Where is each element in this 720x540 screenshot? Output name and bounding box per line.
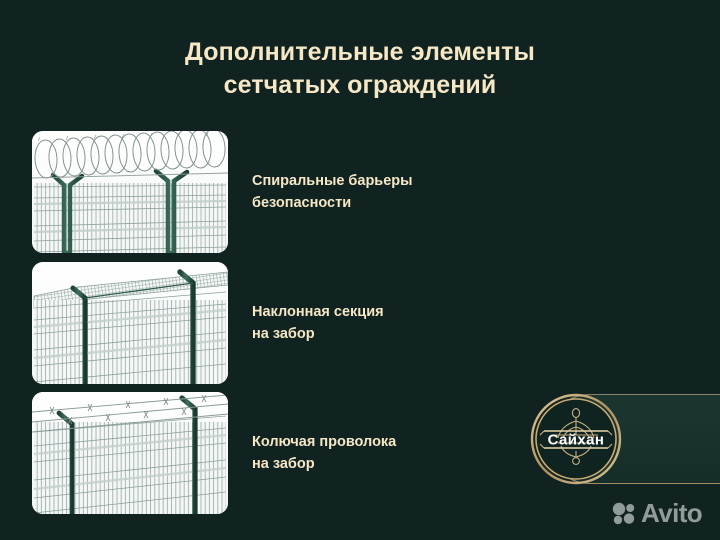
slide-canvas: Дополнительные элементы сетчатых огражде… bbox=[0, 0, 720, 540]
brand-name-text: Сайхан bbox=[548, 432, 605, 449]
thumbnail-spiral-barrier[interactable] bbox=[32, 131, 228, 253]
thumbnail-angled-section[interactable] bbox=[32, 262, 228, 384]
page-title-line-1: Дополнительные элементы bbox=[185, 38, 535, 66]
feature-row-2: Наклонная секция на забор bbox=[32, 262, 692, 384]
thumbnail-barbed-wire[interactable] bbox=[32, 392, 228, 514]
feature-caption-3-line-2: на забор bbox=[252, 453, 396, 475]
feature-caption-1-line-1: Спиральные барьеры bbox=[252, 173, 413, 189]
angled-mesh-illustration bbox=[32, 262, 228, 384]
avito-watermark: Avito bbox=[612, 500, 702, 526]
page-title-line-2: сетчатых ограждений bbox=[60, 69, 660, 102]
feature-row-1: Спиральные барьеры безопасности bbox=[32, 131, 692, 253]
feature-caption-2: Наклонная секция на забор bbox=[252, 301, 384, 345]
feature-caption-3-line-1: Колючая проволока bbox=[252, 434, 396, 450]
avito-dots-icon bbox=[612, 501, 636, 525]
brand-logo[interactable]: Сайхан bbox=[528, 391, 624, 487]
feature-caption-2-line-1: Наклонная секция bbox=[252, 304, 384, 320]
feature-caption-3: Колючая проволока на забор bbox=[252, 431, 396, 475]
page-title: Дополнительные элементы сетчатых огражде… bbox=[60, 36, 660, 102]
razor-wire-illustration bbox=[32, 131, 228, 253]
brand-emblem-icon: Сайхан bbox=[528, 391, 624, 487]
barbed-wire-illustration bbox=[32, 392, 228, 514]
feature-caption-1-line-2: безопасности bbox=[252, 192, 413, 214]
feature-caption-2-line-2: на забор bbox=[252, 323, 384, 345]
avito-wordmark: Avito bbox=[641, 500, 702, 526]
feature-caption-1: Спиральные барьеры безопасности bbox=[252, 170, 413, 214]
